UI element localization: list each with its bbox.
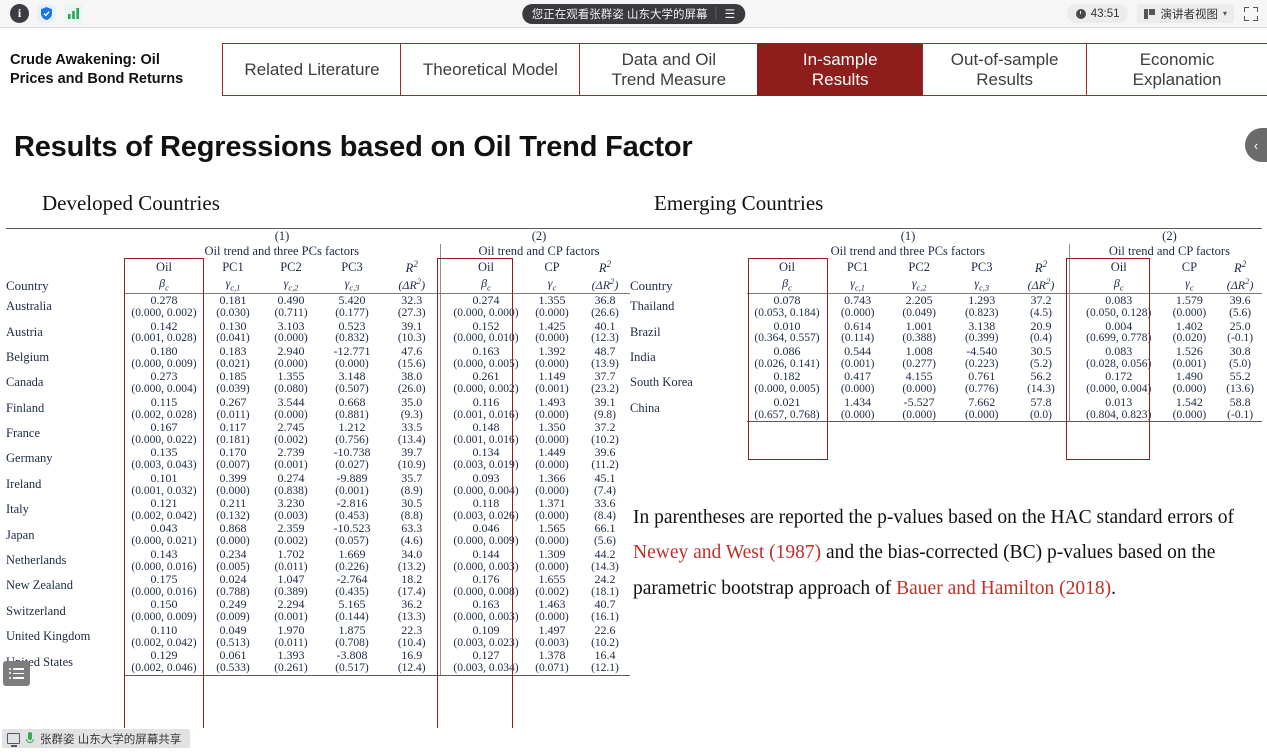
cell-pvalue: (0.027) [320, 459, 384, 471]
table-row: Austria0.1420.1303.1030.52339.10.1521.42… [6, 320, 630, 333]
cell-estimate: 0.115 [124, 396, 204, 409]
presenter-view-icon [1144, 9, 1155, 19]
cell-pvalue: (0.000, 0.010) [448, 332, 524, 344]
cell-pvalue: (0.000) [1161, 383, 1219, 395]
cell-estimate: 39.1 [384, 320, 440, 333]
cell-estimate: 0.163 [448, 345, 524, 358]
timer-value: 43:51 [1091, 8, 1120, 20]
cell-pvalue: (23.2) [580, 383, 630, 395]
cell-estimate: 0.490 [262, 294, 320, 307]
cell-pvalue: (0.000) [827, 409, 889, 422]
row-country: India [630, 345, 747, 370]
table-row: Finland0.1150.2673.5440.66835.00.1161.49… [6, 396, 630, 409]
cell-estimate: 5.165 [320, 598, 384, 611]
developed-countries-table: (1) (2) Country Oil trend and three PCs … [6, 228, 630, 676]
chevron-down-icon: ▾ [1223, 9, 1227, 18]
cell-estimate: 32.3 [384, 294, 440, 307]
cell-estimate: 0.144 [448, 548, 524, 561]
sym-beta-c-1: βc [747, 276, 827, 294]
cell-pvalue: (0.000) [524, 459, 580, 471]
row-country: Brazil [630, 320, 747, 345]
row-country: Germany [6, 446, 124, 471]
cell-pvalue: (0.823) [950, 307, 1014, 319]
cell-pvalue: (0.020) [1161, 332, 1219, 344]
cell-estimate: 0.249 [204, 598, 262, 611]
cell-estimate: 2.739 [262, 446, 320, 459]
cell-estimate: 55.2 [1218, 370, 1262, 383]
cell-pvalue: (0.000) [827, 307, 889, 319]
col-pc2: PC2 [888, 259, 950, 276]
slide-navigation: Crude Awakening: Oil Prices and Bond Ret… [0, 43, 1267, 96]
cell-estimate: 0.167 [124, 421, 204, 434]
cell-pvalue: (0.007) [204, 459, 262, 471]
top-bar-right-controls: 43:51 演讲者视图 ▾ [1067, 4, 1259, 23]
col-r2-1: R2 [1013, 259, 1069, 276]
cell-estimate: 0.127 [448, 649, 524, 662]
col-pc1: PC1 [827, 259, 889, 276]
cell-pvalue: (0.000) [888, 383, 950, 395]
row-country: Finland [6, 396, 124, 421]
table-row: Netherlands0.1430.2341.7021.66934.00.144… [6, 548, 630, 561]
emerging-countries-table: (1) (2) Country Oil trend and three PCs … [630, 228, 1262, 422]
cell-estimate: 0.181 [204, 294, 262, 307]
cell-pvalue: (0.001) [524, 383, 580, 395]
cell-estimate: 1.047 [262, 573, 320, 586]
cell-estimate: 0.109 [448, 624, 524, 637]
cell-pvalue: (0.002, 0.046) [124, 662, 204, 675]
row-country: Australia [6, 294, 124, 320]
tab-economic-explanation[interactable]: Economic Explanation [1086, 43, 1267, 96]
row-country: France [6, 421, 124, 446]
cell-estimate: 40.1 [580, 320, 630, 333]
cell-pvalue: (13.3) [384, 611, 440, 623]
cell-estimate: 35.7 [384, 472, 440, 485]
table-row: Belgium0.1800.1832.940-12.77147.60.1631.… [6, 345, 630, 358]
col-oil-1: Oil [747, 259, 827, 276]
cell-estimate: 33.6 [580, 497, 630, 510]
cell-estimate: 0.152 [448, 320, 524, 333]
cell-estimate: 1.490 [1161, 370, 1219, 383]
table-row: Germany0.1350.1702.739-10.73839.70.1341.… [6, 446, 630, 459]
cell-pvalue: (4.5) [1013, 307, 1069, 319]
cell-estimate: 0.668 [320, 396, 384, 409]
table-row: New Zealand0.1750.0241.047-2.76418.20.17… [6, 573, 630, 586]
sym-delta-r2-2: (ΔR2) [1218, 276, 1262, 294]
cell-estimate: 1.493 [524, 396, 580, 409]
sym-gamma-c3: γc,3 [320, 276, 384, 294]
cell-pvalue: (0.000) [524, 535, 580, 547]
cell-pvalue: (0.000, 0.002) [448, 383, 524, 395]
cell-estimate: 1.378 [524, 649, 580, 662]
cell-pvalue: (11.2) [580, 459, 630, 471]
cell-estimate: 30.8 [1218, 345, 1262, 358]
shield-icon[interactable] [37, 4, 56, 23]
cell-pvalue: (0.000, 0.003) [448, 611, 524, 623]
sym-gamma-c1: γc,1 [827, 276, 889, 294]
cell-pvalue: (12.1) [580, 662, 630, 675]
cell-estimate: 0.061 [204, 649, 262, 662]
row-country: China [630, 396, 747, 422]
cell-estimate: 0.129 [124, 649, 204, 662]
presentation-slide: Crude Awakening: Oil Prices and Bond Ret… [0, 28, 1267, 728]
cell-estimate: 0.086 [747, 345, 827, 358]
sym-gamma-c2: γc,2 [262, 276, 320, 294]
cell-estimate: 44.2 [580, 548, 630, 561]
cell-estimate: 39.6 [1218, 294, 1262, 307]
panel-label-emerging: Emerging Countries [654, 191, 823, 216]
cell-estimate: 2.359 [262, 522, 320, 535]
cell-pvalue: (0.000, 0.009) [448, 535, 524, 547]
cell-estimate: 30.5 [1013, 345, 1069, 358]
cell-estimate: 1.669 [320, 548, 384, 561]
row-country: Belgium [6, 345, 124, 370]
cell-estimate: 22.3 [384, 624, 440, 637]
col-r2-1: R2 [384, 259, 440, 276]
cell-pvalue: (10.3) [384, 332, 440, 344]
col-oil-2: Oil [1077, 259, 1161, 276]
table-row: Thailand0.0780.7432.2051.29337.20.0831.5… [630, 294, 1262, 307]
table-row: Brazil0.0100.6141.0013.13820.90.0041.402… [630, 320, 1262, 333]
cell-estimate: 1.008 [888, 345, 950, 358]
cell-pvalue: (0.832) [320, 332, 384, 344]
cell-estimate: 1.355 [262, 370, 320, 383]
table-row: South Korea0.1820.4174.1550.76156.20.172… [630, 370, 1262, 383]
cell-estimate: 1.463 [524, 598, 580, 611]
cell-estimate: 16.4 [580, 649, 630, 662]
cell-pvalue: (12.4) [384, 662, 440, 675]
cell-estimate: 3.148 [320, 370, 384, 383]
tab-label-2: Results [812, 70, 869, 89]
cell-estimate: 0.118 [448, 497, 524, 510]
cell-estimate: 0.234 [204, 548, 262, 561]
screen-share-window: i 您正在观看张群姿 山东大学的屏幕 ☰ 43:51 演讲者视图 [0, 0, 1267, 755]
panel-label-developed: Developed Countries [42, 191, 220, 216]
cell-estimate: 1.402 [1161, 320, 1219, 333]
cell-estimate: 58.8 [1218, 396, 1262, 409]
cell-estimate: 0.399 [204, 472, 262, 485]
cell-estimate: 0.021 [747, 396, 827, 409]
row-country: United Kingdom [6, 624, 124, 649]
cell-pvalue: (0.000, 0.005) [747, 383, 827, 395]
cell-estimate: 40.7 [580, 598, 630, 611]
cell-pvalue: (0.000) [204, 535, 262, 547]
cell-estimate: -10.738 [320, 446, 384, 459]
sym-beta-c-2: βc [1077, 276, 1161, 294]
cell-pvalue: (0.000) [524, 332, 580, 344]
cell-estimate: 0.274 [262, 472, 320, 485]
cell-estimate: 1.001 [888, 320, 950, 333]
cell-estimate: 3.230 [262, 497, 320, 510]
share-label: 张群姿 山东大学的屏幕共享 [40, 731, 181, 747]
table-row: Australia0.2780.1810.4905.42032.30.2741.… [6, 294, 630, 307]
cell-estimate: 2.294 [262, 598, 320, 611]
cell-estimate: 0.211 [204, 497, 262, 510]
cell-estimate: 2.205 [888, 294, 950, 307]
cell-pvalue: (0.804, 0.823) [1077, 409, 1161, 422]
cell-estimate: 1.350 [524, 421, 580, 434]
row-country: Canada [6, 370, 124, 395]
cell-estimate: 1.875 [320, 624, 384, 637]
cell-estimate: 36.2 [384, 598, 440, 611]
cell-estimate: 0.024 [204, 573, 262, 586]
cell-pvalue: (0.144) [320, 611, 384, 623]
tab-label: Data and Oil [622, 50, 717, 69]
cell-estimate: 3.544 [262, 396, 320, 409]
tab-label: Related Literature [244, 60, 379, 79]
cell-estimate: 3.103 [262, 320, 320, 333]
cell-pvalue: (0.507) [320, 383, 384, 395]
microphone-icon [25, 732, 35, 745]
view-mode-selector[interactable]: 演讲者视图 ▾ [1137, 4, 1234, 23]
tab-out-of-sample-results[interactable]: Out-of-sample Results [922, 43, 1088, 96]
cell-estimate: 2.745 [262, 421, 320, 434]
cell-pvalue: (0.000) [1161, 409, 1219, 422]
cell-estimate: 0.101 [124, 472, 204, 485]
cell-estimate: 1.371 [524, 497, 580, 510]
cell-pvalue: (0.000) [524, 307, 580, 319]
cell-estimate: 0.043 [124, 522, 204, 535]
cell-pvalue: (0.000, 0.021) [124, 535, 204, 547]
cell-estimate: 37.2 [580, 421, 630, 434]
cell-estimate: 1.579 [1161, 294, 1219, 307]
tab-label: Theoretical Model [423, 60, 558, 79]
cell-pvalue: (0.000) [950, 409, 1014, 422]
cell-pvalue: (0.399) [950, 332, 1014, 344]
cell-pvalue: (4.6) [384, 535, 440, 547]
model2-number: (2) [1077, 229, 1262, 245]
cell-pvalue: (0.049) [888, 307, 950, 319]
cell-estimate: 39.7 [384, 446, 440, 459]
clock-icon [1076, 9, 1086, 19]
section-tabs: Related Literature Theoretical Model Dat… [222, 43, 1267, 96]
cell-estimate: 1.366 [524, 472, 580, 485]
tab-data-and-oil-trend-measure[interactable]: Data and Oil Trend Measure [579, 43, 759, 96]
cell-estimate: 1.309 [524, 548, 580, 561]
tab-label: Out-of-sample [951, 50, 1059, 69]
cell-pvalue: (0.517) [320, 662, 384, 675]
cell-pvalue: (0.711) [262, 307, 320, 319]
table-row: United Kingdom0.1100.0491.9701.87522.30.… [6, 624, 630, 637]
col-pc3: PC3 [950, 259, 1014, 276]
cell-pvalue: (0.003, 0.034) [448, 662, 524, 675]
table-row: China0.0211.434-5.5277.66257.80.0131.542… [630, 396, 1262, 409]
tab-related-literature[interactable]: Related Literature [222, 43, 402, 96]
col-oil-2: Oil [448, 259, 524, 276]
model2-number: (2) [448, 229, 630, 245]
cell-pvalue: (13.6) [1218, 383, 1262, 395]
cell-estimate: 1.526 [1161, 345, 1219, 358]
cell-pvalue: (0.030) [204, 307, 262, 319]
cell-estimate: -12.771 [320, 345, 384, 358]
cell-pvalue: (-0.1) [1218, 332, 1262, 344]
table-row: United States0.1290.0611.393-3.80816.90.… [6, 649, 630, 662]
cell-pvalue: (0.000) [827, 383, 889, 395]
cell-estimate: 0.148 [448, 421, 524, 434]
cell-estimate: 1.449 [524, 446, 580, 459]
cell-estimate: -5.527 [888, 396, 950, 409]
row-country: Italy [6, 497, 124, 522]
row-country: Thailand [630, 294, 747, 320]
deck-title: Crude Awakening: Oil Prices and Bond Ret… [0, 43, 222, 96]
cell-estimate: 1.655 [524, 573, 580, 586]
sym-gamma-c: γc [524, 276, 580, 294]
cell-estimate: 0.143 [124, 548, 204, 561]
cell-pvalue: (0.261) [262, 662, 320, 675]
viewing-options-icon[interactable]: ☰ [724, 7, 741, 21]
cell-estimate: 1.970 [262, 624, 320, 637]
cell-estimate: 57.8 [1013, 396, 1069, 409]
row-country: Austria [6, 320, 124, 345]
cell-estimate: 0.078 [747, 294, 827, 307]
note-text: . [1111, 578, 1116, 599]
sym-delta-r2-2: (ΔR2) [580, 276, 630, 294]
cell-estimate: 1.565 [524, 522, 580, 535]
cell-pvalue: (0.003, 0.043) [124, 459, 204, 471]
cell-estimate: 0.176 [448, 573, 524, 586]
row-country: Ireland [6, 472, 124, 497]
cell-estimate: 24.2 [580, 573, 630, 586]
col-cp: CP [1161, 259, 1219, 276]
cell-estimate: 0.761 [950, 370, 1014, 383]
fullscreen-icon[interactable] [1243, 6, 1259, 22]
row-country: South Korea [630, 370, 747, 395]
screen-share-indicator[interactable]: 张群姿 山东大学的屏幕共享 [2, 729, 190, 748]
table-row: Canada0.2730.1851.3553.14838.00.2611.149… [6, 370, 630, 383]
sym-gamma-c3: γc,3 [950, 276, 1014, 294]
tab-label-2: Results [976, 70, 1033, 89]
cell-pvalue: (0.388) [888, 332, 950, 344]
cell-estimate: 39.1 [580, 396, 630, 409]
cell-estimate: 0.544 [827, 345, 889, 358]
cell-estimate: 45.1 [580, 472, 630, 485]
cell-pvalue: (0.041) [204, 332, 262, 344]
cell-pvalue: (0.000, 0.009) [124, 611, 204, 623]
model1-group-label: Oil trend and three PCs factors [747, 244, 1069, 259]
cell-estimate: 0.185 [204, 370, 262, 383]
tab-theoretical-model[interactable]: Theoretical Model [400, 43, 580, 96]
slide-list-view-icon[interactable] [3, 661, 30, 686]
cell-estimate: 63.3 [384, 522, 440, 535]
tab-label-2: Explanation [1133, 70, 1222, 89]
cell-estimate: 1.392 [524, 345, 580, 358]
cell-estimate: -10.523 [320, 522, 384, 535]
cell-estimate: 4.155 [888, 370, 950, 383]
cell-pvalue: (0.000) [888, 409, 950, 422]
table-row: Italy0.1210.2113.230-2.81630.50.1181.371… [6, 497, 630, 510]
cell-pvalue: (10.9) [384, 459, 440, 471]
cell-estimate: -2.764 [320, 573, 384, 586]
meeting-timer[interactable]: 43:51 [1067, 4, 1129, 23]
table-header: (1) (2) Country Oil trend and three PCs … [6, 229, 630, 294]
cell-pvalue: (0.053, 0.184) [747, 307, 827, 319]
col-pc1: PC1 [204, 259, 262, 276]
cell-estimate: 30.5 [384, 497, 440, 510]
collapse-panel-button[interactable]: ‹ [1245, 128, 1267, 162]
cell-estimate: 0.135 [124, 446, 204, 459]
cell-estimate: 36.8 [580, 294, 630, 307]
cell-estimate: 0.046 [448, 522, 524, 535]
emerging-table-body: Thailand0.0780.7432.2051.29337.20.0831.5… [630, 294, 1262, 422]
col-oil-1: Oil [124, 259, 204, 276]
cell-estimate: 3.138 [950, 320, 1014, 333]
cell-pvalue: (0.039) [204, 383, 262, 395]
cell-estimate: 0.743 [827, 294, 889, 307]
row-country: Netherlands [6, 548, 124, 573]
cell-estimate: 0.093 [448, 472, 524, 485]
info-icon[interactable]: i [10, 4, 29, 23]
cell-estimate: 1.425 [524, 320, 580, 333]
cell-pvalue: (0.000, 0.004) [1077, 383, 1161, 395]
cell-estimate: 0.110 [124, 624, 204, 637]
cell-pvalue: (0.002) [262, 535, 320, 547]
cell-pvalue: (0.009) [204, 611, 262, 623]
cell-estimate: 1.293 [950, 294, 1014, 307]
cell-estimate: 34.0 [384, 548, 440, 561]
cell-estimate: 0.163 [448, 598, 524, 611]
cell-estimate: 0.180 [124, 345, 204, 358]
cell-estimate: 1.149 [524, 370, 580, 383]
cell-pvalue: (5.6) [580, 535, 630, 547]
model1-group-label: Oil trend and three PCs factors [124, 244, 440, 259]
cell-estimate: 0.523 [320, 320, 384, 333]
cell-estimate: 35.0 [384, 396, 440, 409]
note-text: In parentheses are reported the p-values… [633, 507, 1234, 528]
cell-pvalue: (12.3) [580, 332, 630, 344]
cell-pvalue: (5.6) [1218, 307, 1262, 319]
cell-estimate: 1.497 [524, 624, 580, 637]
col-pc3: PC3 [320, 259, 384, 276]
zoom-bottom-bar: 张群姿 山东大学的屏幕共享 [0, 728, 1267, 755]
column-header-country: Country [630, 244, 747, 294]
cell-estimate: 5.420 [320, 294, 384, 307]
cell-estimate: -4.540 [950, 345, 1014, 358]
cell-pvalue: (0.071) [524, 662, 580, 675]
cell-estimate: 0.172 [1077, 370, 1161, 383]
cell-estimate: 0.083 [1077, 345, 1161, 358]
cell-pvalue: (0.000, 0.004) [124, 383, 204, 395]
screen-share-icon [7, 733, 20, 744]
row-country: New Zealand [6, 573, 124, 598]
cell-pvalue: (0.177) [320, 307, 384, 319]
cell-estimate: 0.417 [827, 370, 889, 383]
cell-estimate: 0.278 [124, 294, 204, 307]
deck-title-line2: Prices and Bond Returns [10, 70, 222, 88]
sym-beta-c-2: βc [448, 276, 524, 294]
cell-estimate: 0.004 [1077, 320, 1161, 333]
cell-pvalue: (0.699, 0.778) [1077, 332, 1161, 344]
top-bar-left-icons: i [0, 4, 83, 23]
cell-estimate: 37.2 [1013, 294, 1069, 307]
cell-estimate: 25.0 [1218, 320, 1262, 333]
cell-pvalue: (0.000) [524, 611, 580, 623]
tab-label-2: Trend Measure [611, 70, 726, 89]
cell-estimate: 7.662 [950, 396, 1014, 409]
cell-pvalue: (27.3) [384, 307, 440, 319]
sym-gamma-c2: γc,2 [888, 276, 950, 294]
cell-estimate: 0.273 [124, 370, 204, 383]
cell-estimate: 16.9 [384, 649, 440, 662]
cell-pvalue: (-0.1) [1218, 409, 1262, 422]
tab-in-sample-results[interactable]: In-sample Results [757, 43, 923, 96]
model1-number: (1) [124, 229, 440, 245]
cell-estimate: 1.212 [320, 421, 384, 434]
tab-label: In-sample [803, 50, 878, 69]
cell-estimate: 1.393 [262, 649, 320, 662]
cell-estimate: 0.010 [747, 320, 827, 333]
stats-icon[interactable] [64, 4, 83, 23]
model1-number: (1) [747, 229, 1069, 245]
cell-estimate: -2.816 [320, 497, 384, 510]
